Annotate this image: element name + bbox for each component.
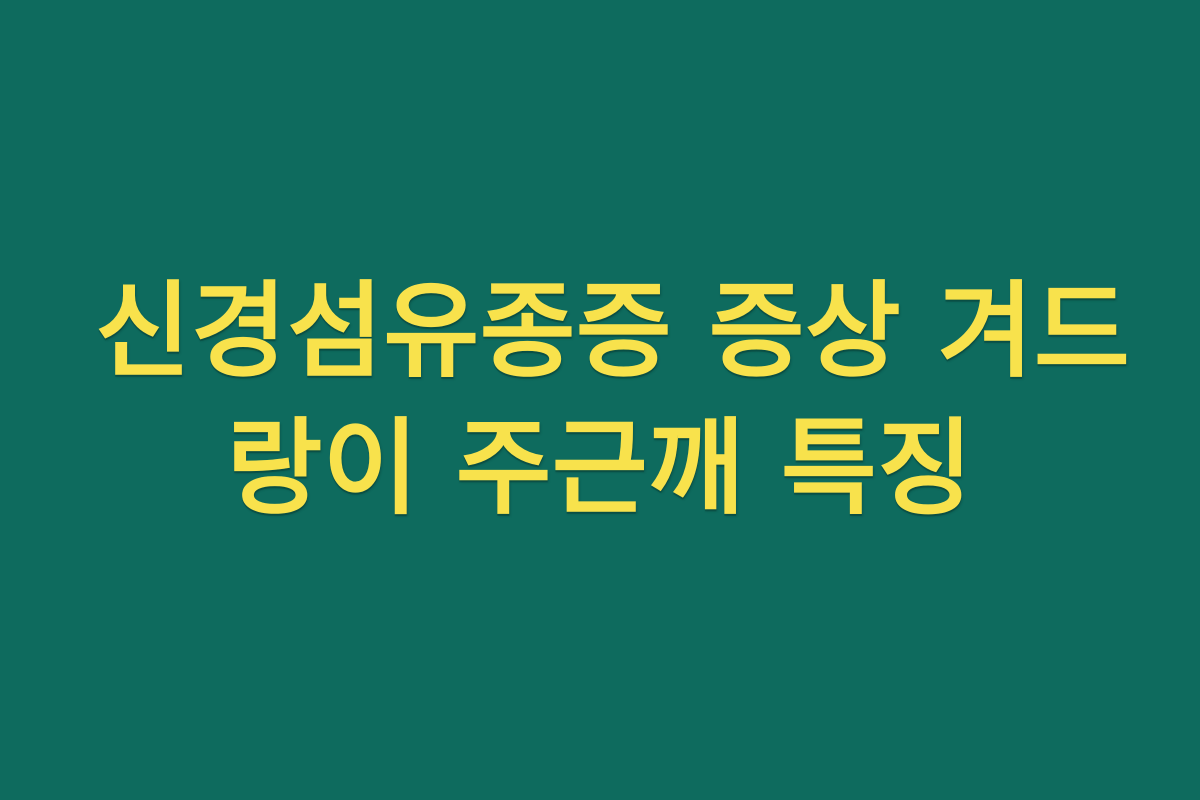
headline-text: 신경섬유종증 증상 겨드 랑이 주근깨 특징	[95, 263, 1105, 538]
headline-line-2: 랑이 주근깨 특징	[95, 400, 1105, 537]
banner-background: 신경섬유종증 증상 겨드 랑이 주근깨 특징	[0, 0, 1200, 800]
headline-line-1: 신경섬유종증 증상 겨드	[95, 263, 1105, 400]
